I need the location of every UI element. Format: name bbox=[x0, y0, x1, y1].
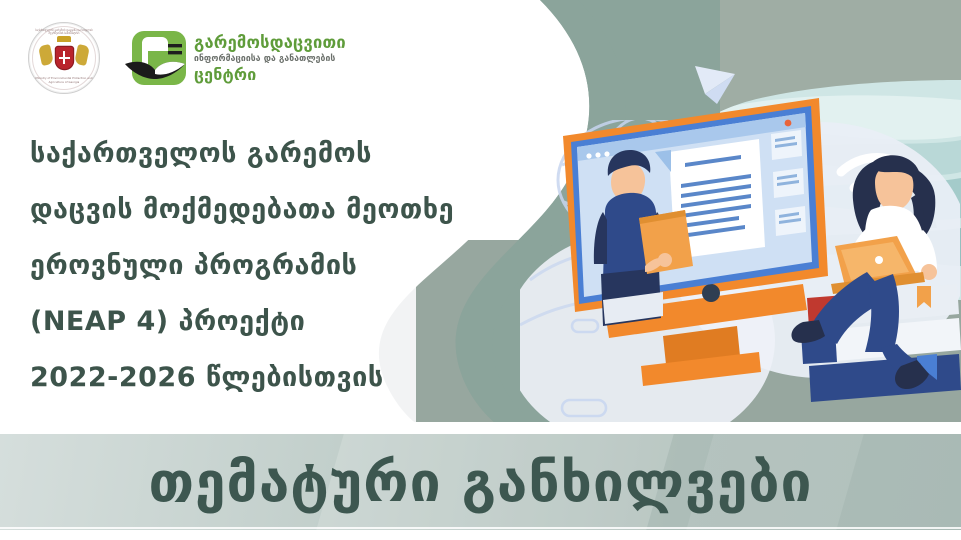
bottom-banner: თემატური განხილვები bbox=[0, 422, 961, 540]
seal-caption: Ministry of Environmental Protection and… bbox=[29, 77, 99, 84]
open-book-leaf-icon bbox=[124, 27, 186, 89]
center-logo-line3: ცენტრი bbox=[194, 67, 346, 83]
paper-plane-icon bbox=[695, 66, 735, 104]
slide-root: საქართველოს გარემოს დაცვისა და სოფლის მე… bbox=[0, 0, 961, 540]
banner-title: თემატური განხილვები bbox=[0, 436, 961, 528]
headline-line-5: 2022-2026 წლებისთვის bbox=[30, 350, 500, 406]
online-learning-illustration bbox=[545, 60, 961, 440]
center-logo-line2: ინფორმაციისა და განათლების bbox=[194, 55, 346, 64]
center-logo: გარემოსდაცვითი ინფორმაციისა და განათლები… bbox=[124, 27, 346, 89]
headline-block: საქართველოს გარემოს დაცვის მოქმედებათა მ… bbox=[30, 126, 500, 406]
banner-hairline-top bbox=[0, 431, 961, 433]
center-logo-line1: გარემოსდაცვითი bbox=[194, 35, 346, 52]
headline-line-4: (NEAP 4) პროექტი bbox=[30, 294, 500, 350]
headline-line-3: ეროვნული პროგრამის bbox=[30, 238, 500, 294]
logo-row: საქართველოს გარემოს დაცვისა და სოფლის მე… bbox=[28, 22, 346, 94]
seal-arc-text: საქართველოს გარემოს დაცვისა და სოფლის მე… bbox=[29, 29, 99, 35]
georgia-ministry-seal-icon: საქართველოს გარემოს დაცვისა და სოფლის მე… bbox=[28, 22, 100, 94]
headline-line-1: საქართველოს გარემოს bbox=[30, 126, 500, 182]
headline-line-2: დაცვის მოქმედებათა მეოთხე bbox=[30, 182, 500, 238]
